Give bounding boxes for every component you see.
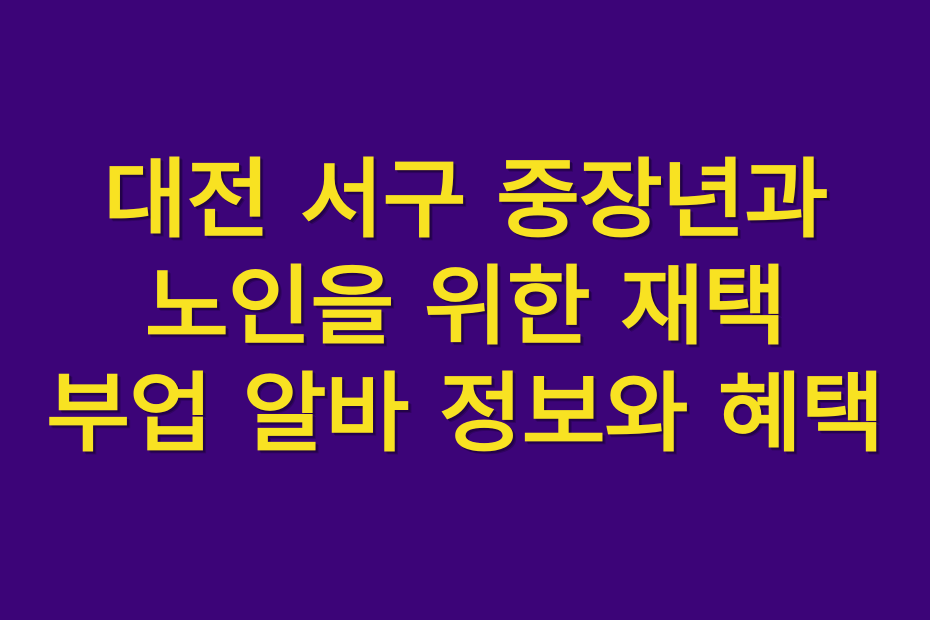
headline-line-3: 부업 알바 정보와 혜택	[46, 361, 883, 468]
headline-block: 대전 서구 중장년과 노인을 위한 재택 부업 알바 정보와 혜택	[0, 147, 930, 468]
poster-banner: 대전 서구 중장년과 노인을 위한 재택 부업 알바 정보와 혜택	[0, 0, 930, 620]
headline-line-2: 노인을 위한 재택	[144, 254, 785, 361]
headline-line-1: 대전 서구 중장년과	[103, 147, 827, 254]
